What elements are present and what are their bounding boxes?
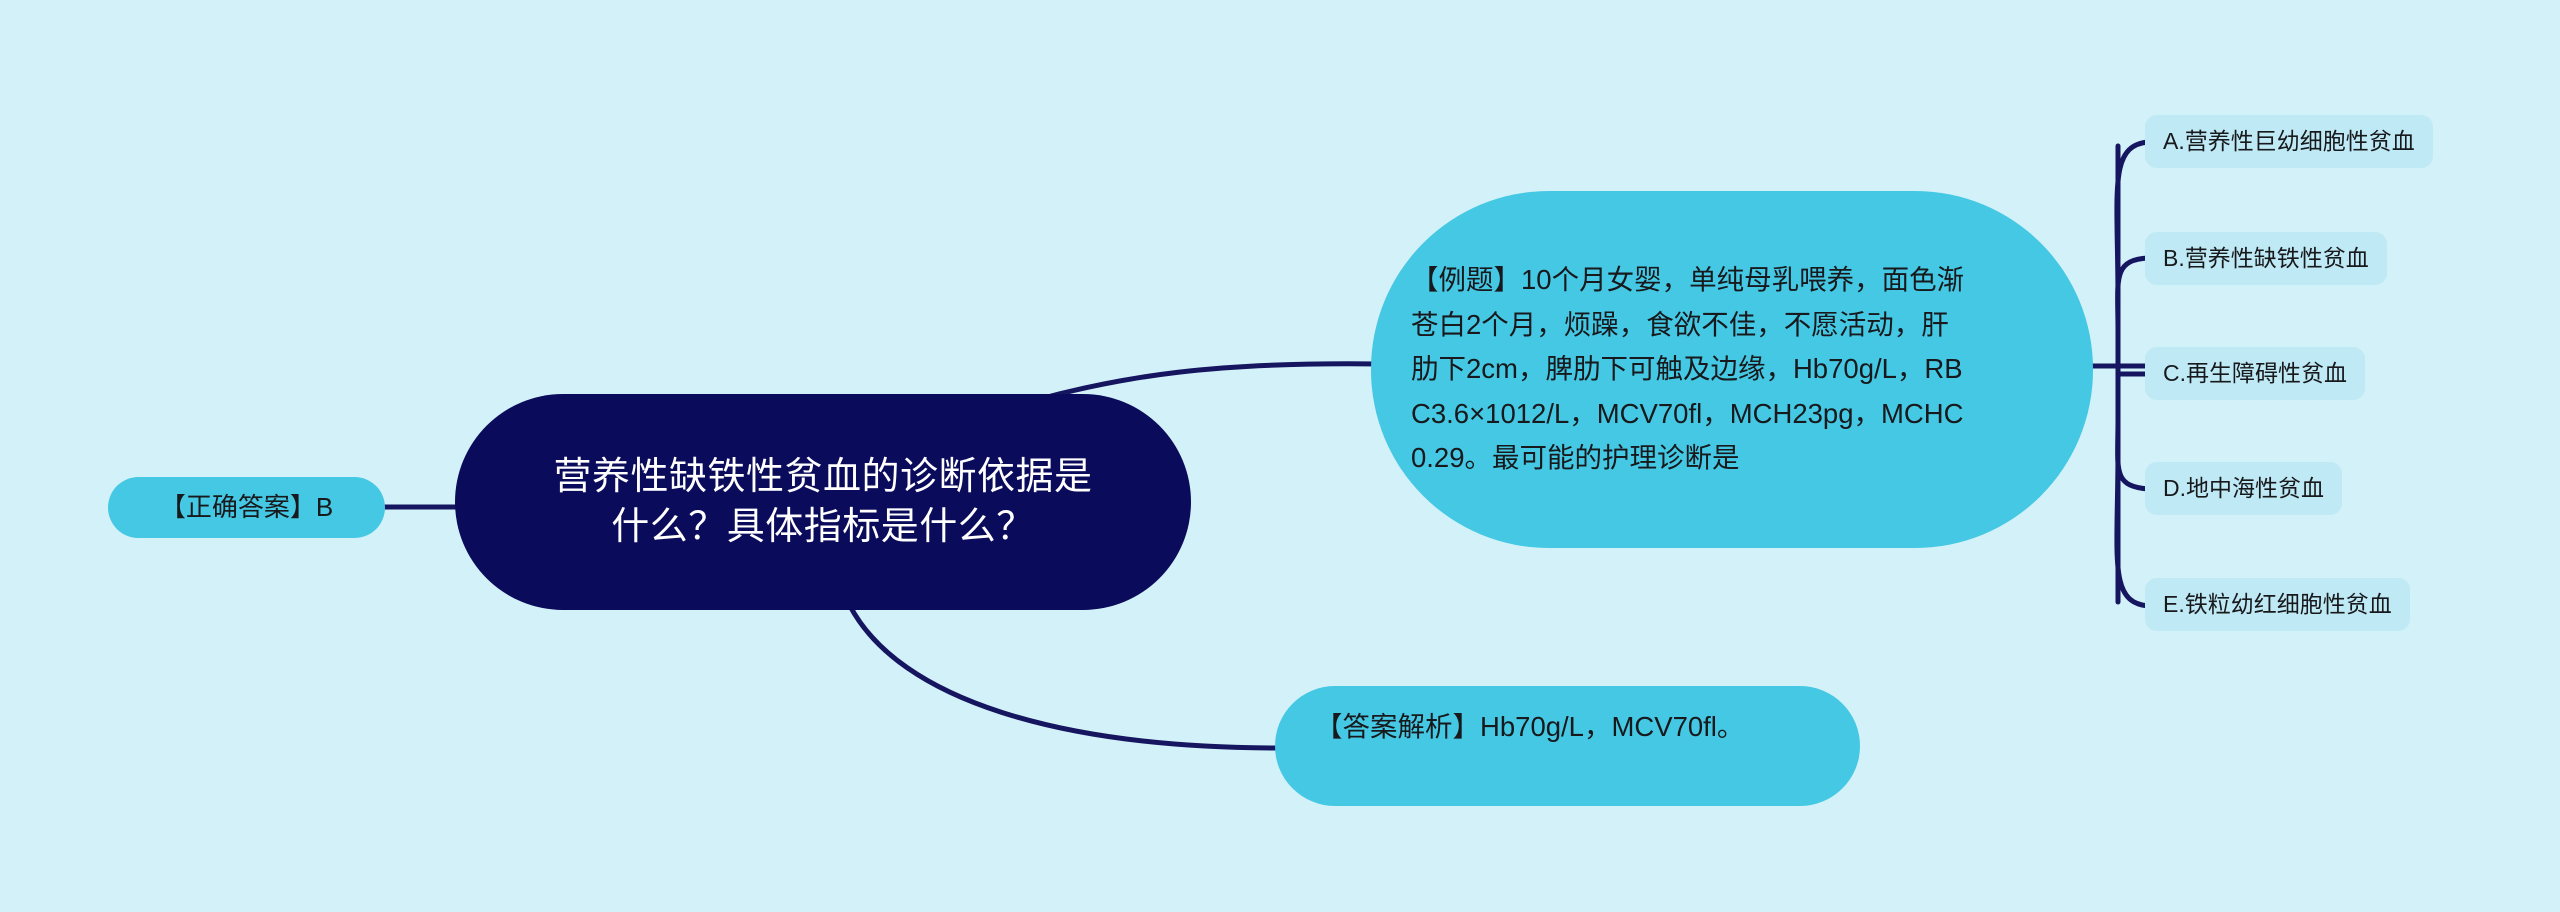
correct-answer-label: 【正确答案】B [160,491,333,524]
option-label-b: B.营养性缺铁性贫血 [2163,247,2369,270]
connector-option-a [2117,142,2148,300]
option-label-c: C.再生障碍性贫血 [2163,362,2347,385]
option-node-d[interactable]: D.地中海性贫血 [2145,462,2342,515]
mindmap-canvas: 营养性缺铁性贫血的诊断依据是什么？具体指标是什么？ 【正确答案】B 【例题】10… [0,0,2560,912]
option-label-e: E.铁粒幼红细胞性贫血 [2163,593,2392,616]
connector-analysis [850,606,1280,748]
option-node-b[interactable]: B.营养性缺铁性贫血 [2145,232,2387,285]
correct-answer-node[interactable]: 【正确答案】B [108,477,385,538]
option-node-e[interactable]: E.铁粒幼红细胞性贫血 [2145,578,2410,631]
connector-option-b [2118,258,2148,330]
connector-option-e [2117,450,2148,606]
answer-analysis-label: 【答案解析】Hb70g/L，MCV70fl。 [1275,686,1845,747]
answer-analysis-node[interactable]: 【答案解析】Hb70g/L，MCV70fl。 [1275,686,1860,806]
example-question-node[interactable]: 【例题】10个月女婴，单纯母乳喂养，面色渐苍白2个月，烦躁，食欲不佳，不愿活动，… [1371,191,2093,548]
option-label-a: A.营养性巨幼细胞性贫血 [2163,130,2415,153]
root-node-label: 营养性缺铁性贫血的诊断依据是什么？具体指标是什么？ [543,452,1103,552]
connector-option-d [2118,420,2148,489]
option-node-c[interactable]: C.再生障碍性贫血 [2145,347,2365,400]
example-question-label: 【例题】10个月女婴，单纯母乳喂养，面色渐苍白2个月，烦躁，食欲不佳，不愿活动，… [1371,258,2009,481]
option-node-a[interactable]: A.营养性巨幼细胞性贫血 [2145,115,2433,168]
option-label-d: D.地中海性贫血 [2163,477,2324,500]
root-node[interactable]: 营养性缺铁性贫血的诊断依据是什么？具体指标是什么？ [455,394,1191,610]
